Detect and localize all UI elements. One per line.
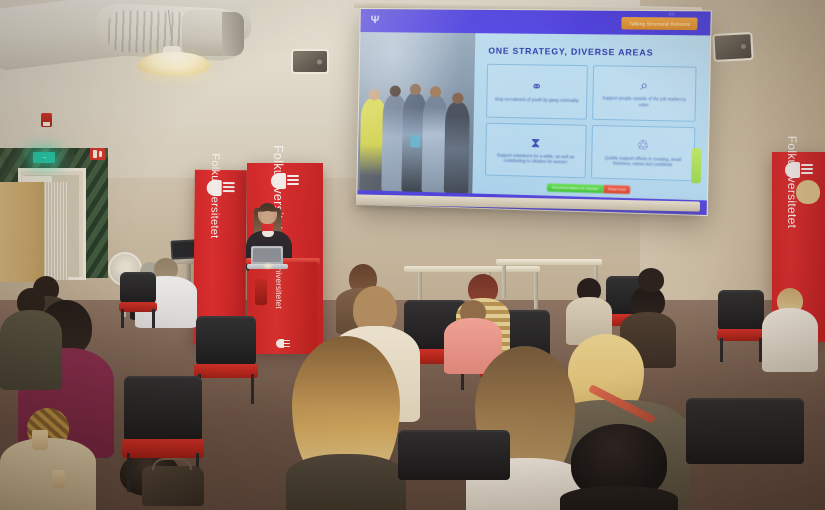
slide-card: ⚭ Stop recruitment of youth by gang crim… [486,64,588,119]
slide-card-text: Quality support efforts in creating, sma… [600,155,687,169]
conference-room-photo: → Ψ 2.0 Talking Structural Reforms [0,0,825,510]
slide-card-text: Stop recruitment of youth by gang crimin… [495,96,579,103]
ventilation-duct-cap [222,12,244,56]
chair[interactable] [718,290,764,362]
slide-photo [357,32,475,193]
slide-logo-icon: Ψ [370,15,381,27]
slide-card-text: Support volunteers for a while, as well … [493,152,577,166]
chair[interactable] [120,272,156,328]
slide-banner-label: Talking Structural Reforms [622,17,698,30]
slide-title: ONE STRATEGY, DIVERSE AREAS [488,45,653,57]
slide-card: ⧗ Support volunteers for a while, as wel… [485,122,587,178]
slide-card-text: Support people outside of the job market… [601,95,688,108]
slide-card: ⌕ Support people outside of the job mark… [592,65,697,121]
presenter-face [261,211,274,224]
slide-body: ONE STRATEGY, DIVERSE AREAS ⚭ Stop recru… [472,33,710,200]
speaker-icon [291,49,329,74]
exit-sign-icon: → [33,152,55,163]
person-woman-patterned-scarf [0,408,96,510]
fire-extinguisher-icon [255,279,267,305]
person-woman-white-sweater-right [762,288,818,368]
slide-top-bar: Ψ 2.0 Talking Structural Reforms [360,9,710,35]
banner-label: Folkuniversitetet [208,153,221,238]
recycle-icon: ♲ [637,138,650,153]
slide-photo-group [357,70,474,193]
laptop-screen-glow [262,262,274,270]
slide-side-tab [691,148,701,184]
bag-on-floor [142,466,204,506]
handcuffs-icon: ⚭ [531,80,543,95]
coffee-cup [32,430,48,450]
person-woman-beige-top-right [566,278,612,340]
chair[interactable] [398,430,510,510]
person-partial-head-right [630,268,672,308]
photo-lanyard [410,135,420,147]
chair[interactable] [196,316,256,404]
slide-card: ♲ Quality support efforts in creating, s… [591,124,696,181]
back-table-2 [496,259,602,265]
coffee-cup [52,470,65,488]
speaker-icon [712,32,753,62]
exit-arrow: → [41,154,48,161]
slide-action-button: Read more [604,185,630,194]
projection-screen: Ψ 2.0 Talking Structural Reforms ONE STR… [356,8,712,216]
bag-handle [152,458,192,470]
fire-alarm-icon[interactable] [41,113,52,127]
magnifier-icon: ⌕ [640,78,648,93]
slide-card-grid: ⚭ Stop recruitment of youth by gang crim… [485,64,697,182]
presenter-collar [262,231,274,237]
fire-extinguisher-icon [90,148,105,160]
door-leaf-wood[interactable] [0,182,44,282]
puzzle-icon: ⧗ [531,136,541,151]
slide-progress-label: Recommendation for Sweden [546,183,603,193]
person-woman-long-blonde-hair [286,336,406,510]
back-table [404,266,540,272]
lamp-icon [138,52,210,76]
presentation-slide: Ψ 2.0 Talking Structural Reforms ONE STR… [357,9,711,215]
slide-banner-subtitle: 2.0 [669,12,674,16]
slide-footer: Recommendation for Sweden Read more [546,183,630,194]
person-man-dark-curly-front [560,424,678,510]
person-woman-olive-coat [0,288,62,384]
table-leg [534,271,538,309]
person-partial-right-edge [790,180,825,238]
photo-person [444,102,470,194]
chair[interactable] [686,398,804,510]
door-mesh-screen [42,182,68,280]
